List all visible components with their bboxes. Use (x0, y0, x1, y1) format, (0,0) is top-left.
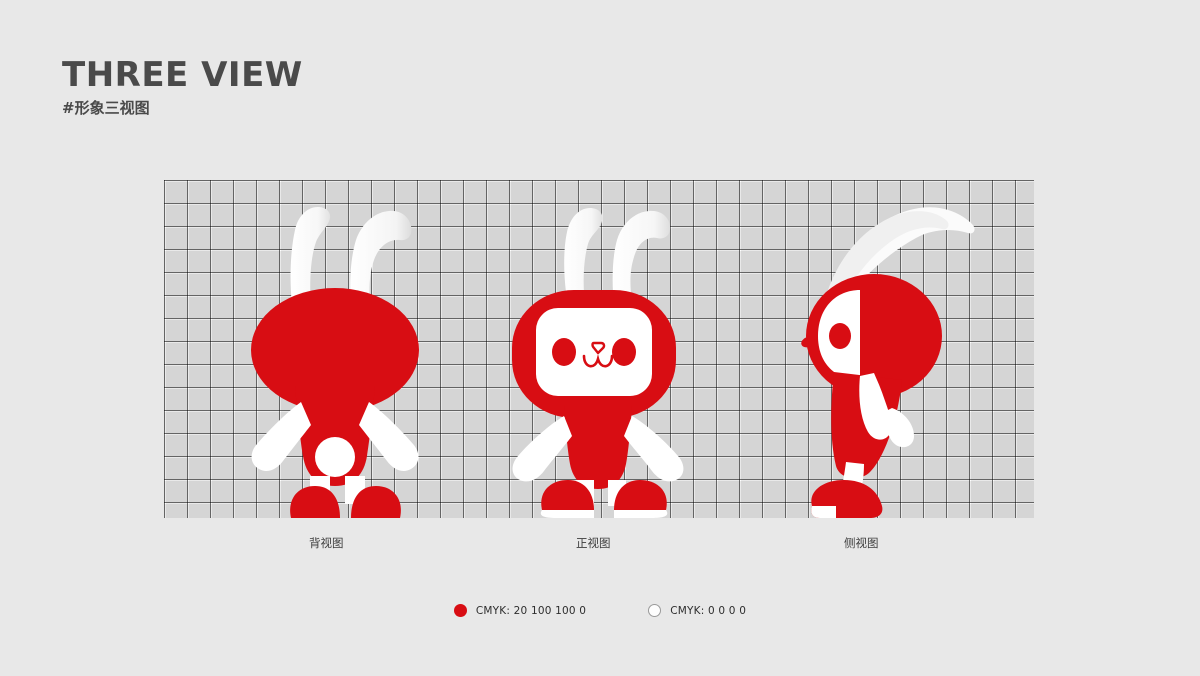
shoe-side (811, 480, 882, 518)
mascot-side-view (764, 180, 1034, 518)
legend-item-red: CMYK: 20 100 100 0 (454, 604, 586, 617)
mascot-back-view (219, 180, 479, 518)
arm-left-front (513, 416, 572, 481)
header: THREE VIEW #形象三视图 (62, 58, 303, 116)
ear-left-front (564, 208, 602, 293)
page-title: THREE VIEW (62, 58, 303, 92)
view-captions: 背视图 正视图 侧视图 (164, 535, 1034, 555)
legend-item-white: CMYK: 0 0 0 0 (648, 604, 746, 617)
eye-left-front (552, 338, 576, 366)
white-swatch-icon (648, 604, 661, 617)
tail-back (315, 437, 355, 477)
arm-right-front (624, 416, 683, 481)
mascot-front-view (484, 180, 734, 518)
eye-side (829, 323, 851, 349)
red-swatch-label: CMYK: 20 100 100 0 (476, 605, 586, 617)
red-swatch-icon (454, 604, 467, 617)
caption-back-view: 背视图 (309, 535, 344, 551)
caption-side-view: 侧视图 (844, 535, 879, 551)
mascot-three-view-group (164, 180, 1034, 518)
ear-right-front (613, 211, 670, 294)
page-subtitle: #形象三视图 (62, 101, 303, 116)
white-swatch-label: CMYK: 0 0 0 0 (670, 605, 746, 617)
shoe-left-back (290, 486, 340, 518)
caption-front-view: 正视图 (576, 535, 611, 551)
eye-right-front (612, 338, 636, 366)
color-legend: CMYK: 20 100 100 0 CMYK: 0 0 0 0 (0, 604, 1200, 617)
body-front (564, 404, 632, 489)
grid-board (164, 180, 1034, 518)
leg-far-side (886, 408, 914, 447)
